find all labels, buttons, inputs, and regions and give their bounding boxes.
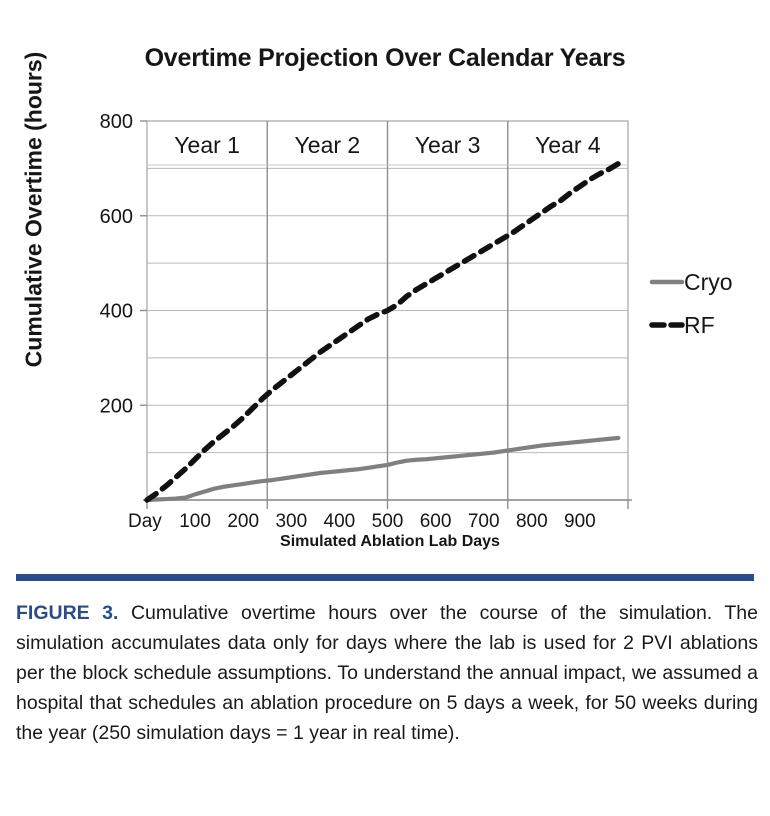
series-line-rf (147, 164, 618, 500)
y-tick-label-200: 200 (100, 395, 133, 417)
chart-plot-area: Year 1Year 2Year 3Year 4200400600800Day1… (0, 96, 770, 566)
x-tick-label-600: 600 (420, 511, 452, 532)
year-band-label-4: Year 4 (535, 132, 601, 158)
year-band-label-1: Year 1 (174, 132, 240, 158)
x-tick-label-800: 800 (516, 511, 548, 532)
chart-svg: Year 1Year 2Year 3Year 4200400600800Day1… (0, 96, 770, 566)
legend-label-cryo: Cryo (684, 269, 733, 295)
x-tick-label-500: 500 (372, 511, 404, 532)
x-tick-label-700: 700 (468, 511, 500, 532)
y-tick-label-600: 600 (100, 206, 133, 228)
series-line-cryo (147, 438, 618, 500)
figure-3: Overtime Projection Over Calendar Years … (0, 0, 770, 816)
x-tick-label-900: 900 (564, 511, 596, 532)
x-tick-label-200: 200 (227, 511, 259, 532)
figure-caption-text: Cumulative overtime hours over the cours… (16, 602, 758, 744)
x-tick-label-300: 300 (275, 511, 307, 532)
x-axis-origin-label: Day (128, 511, 162, 532)
y-tick-label-800: 800 (100, 111, 133, 133)
legend-label-rf: RF (684, 312, 715, 338)
year-band-label-3: Year 3 (415, 132, 481, 158)
year-band-label-2: Year 2 (295, 132, 361, 158)
chart-title: Overtime Projection Over Calendar Years (0, 44, 770, 73)
x-tick-label-400: 400 (324, 511, 356, 532)
y-tick-label-400: 400 (100, 301, 133, 323)
x-tick-label-100: 100 (179, 511, 211, 532)
figure-caption: FIGURE 3. Cumulative overtime hours over… (16, 598, 758, 748)
caption-divider-rule (16, 574, 754, 581)
figure-label: FIGURE 3. (16, 602, 118, 624)
